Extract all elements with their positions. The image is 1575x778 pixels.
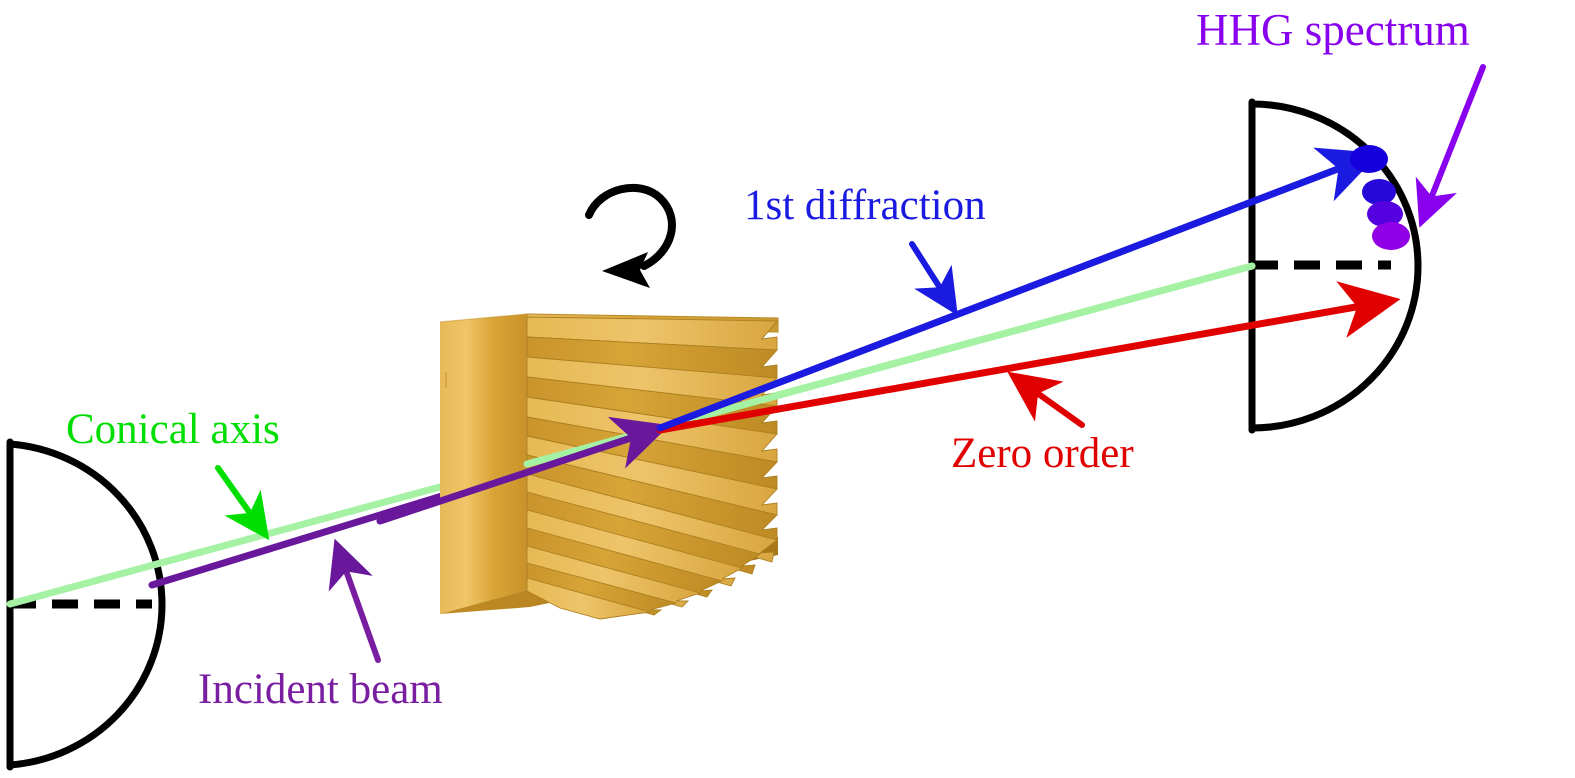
hhg-spectrum-label: HHG spectrum: [1196, 8, 1470, 53]
spectrum-dot: [1362, 179, 1396, 205]
diffraction-pointer-arrow: [912, 244, 951, 305]
conical-pointer-arrow: [218, 468, 262, 530]
conical-axis-label: Conical axis: [66, 408, 280, 451]
grating-left-face: [440, 314, 527, 614]
grating-grooves: [527, 317, 777, 619]
rotation-arrow: [589, 188, 672, 288]
zero-order-pointer-arrow: [1019, 380, 1082, 425]
zero-order-label: Zero order: [951, 432, 1134, 475]
blazed-grating: [440, 314, 778, 619]
spectrum-dot: [1350, 145, 1388, 173]
incident-beam-label: Incident beam: [198, 668, 443, 711]
diagram-svg: [0, 0, 1575, 778]
spectrum-dot: [1372, 222, 1410, 250]
hhg-pointer-arrow: [1424, 67, 1483, 216]
first-diffraction-label: 1st diffraction: [744, 184, 986, 227]
figure-canvas: HHG spectrum 1st diffraction Zero order …: [0, 0, 1575, 778]
incident-pointer-arrow: [339, 551, 378, 660]
